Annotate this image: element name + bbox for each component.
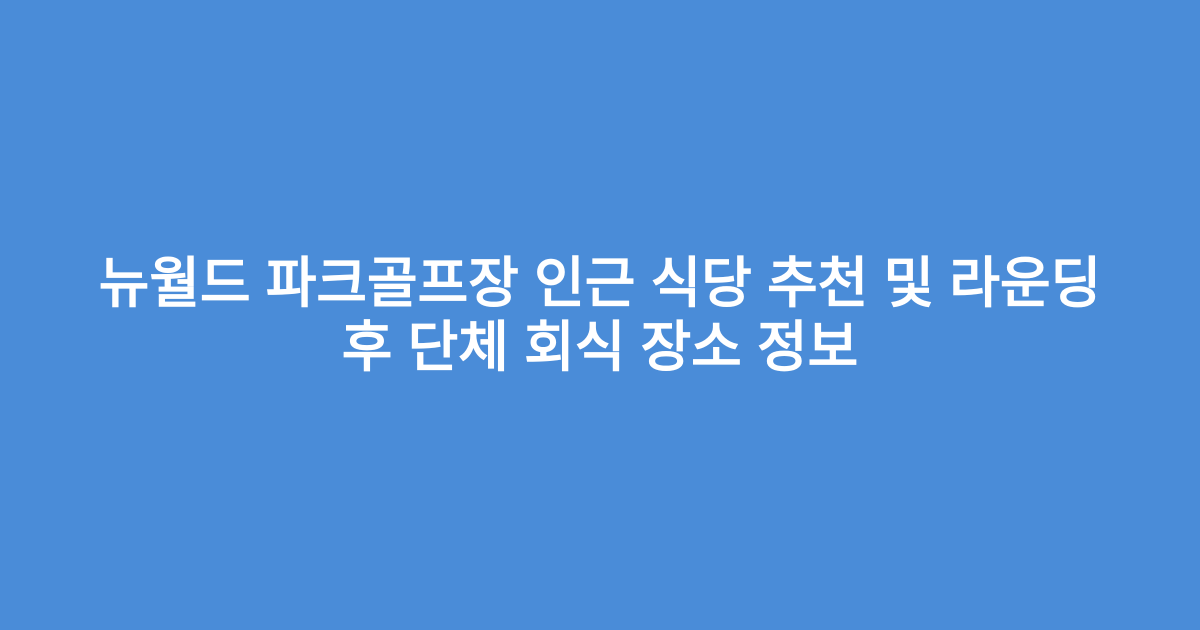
share-card: 뉴월드 파크골프장 인근 식당 추천 및 라운딩 후 단체 회식 장소 정보 <box>0 0 1200 630</box>
title-block: 뉴월드 파크골프장 인근 식당 추천 및 라운딩 후 단체 회식 장소 정보 <box>70 251 1130 379</box>
page-title: 뉴월드 파크골프장 인근 식당 추천 및 라운딩 후 단체 회식 장소 정보 <box>70 251 1130 379</box>
